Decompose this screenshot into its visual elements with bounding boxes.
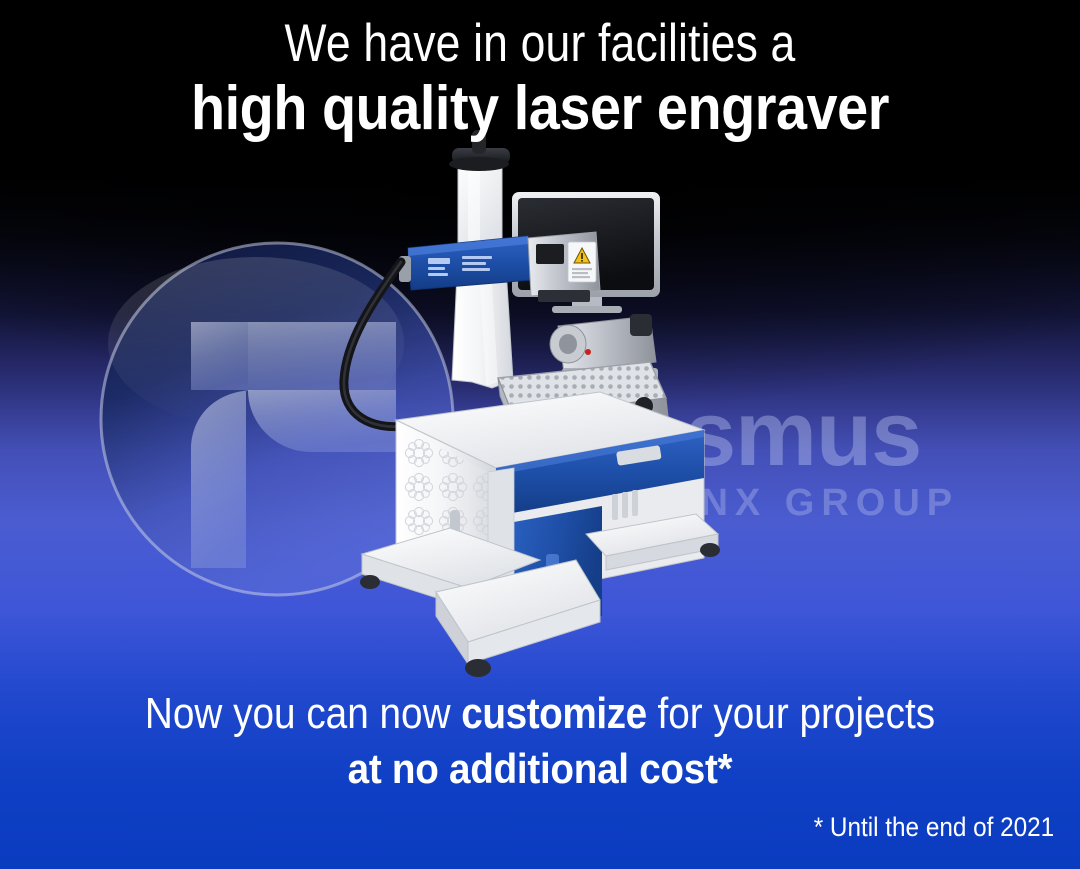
promo-subcopy: Now you can now customize for your proje…	[0, 688, 1080, 794]
subcopy-emphasis: customize	[461, 689, 646, 738]
laser-warning-label	[568, 242, 596, 282]
subcopy-line-2: at no additional cost*	[43, 744, 1037, 794]
promo-footnote: * Until the end of 2021	[814, 812, 1054, 843]
galvo-scan-head	[528, 232, 600, 302]
side-vents	[612, 490, 638, 520]
focus-lens-cylinder	[458, 160, 502, 252]
headline-line-1: We have in our facilities a	[86, 14, 993, 74]
headline-line-2: high quality laser engraver	[54, 76, 1026, 142]
subcopy-prefix: Now you can now	[145, 689, 461, 738]
caster-wheel	[700, 543, 720, 557]
caster-wheel	[360, 575, 380, 589]
caster-wheel	[465, 659, 491, 677]
subcopy-line-1: Now you can now customize for your proje…	[65, 688, 1015, 740]
promo-banner: rasmus KNX GROUP We have in our faciliti…	[0, 0, 1080, 869]
headline: We have in our facilities a high quality…	[0, 14, 1080, 142]
blue-laser-source-module	[399, 236, 531, 290]
laser-engraver-product-image	[300, 130, 730, 690]
subcopy-suffix: for your projects	[647, 689, 935, 738]
